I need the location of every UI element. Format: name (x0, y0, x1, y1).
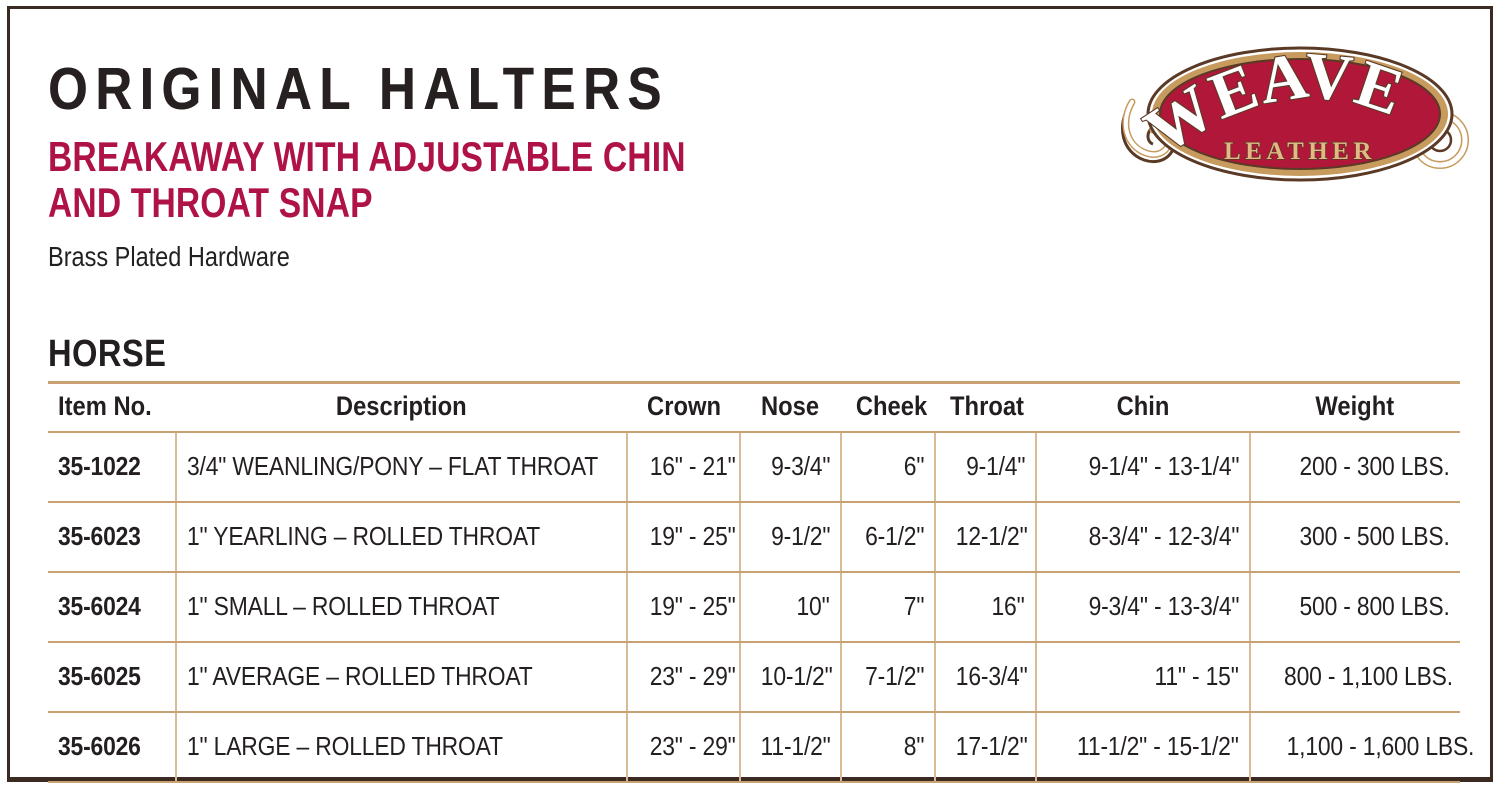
product-spec-sheet: ORIGINAL HALTERS BREAKAWAY WITH ADJUSTAB… (0, 0, 1500, 790)
header-block: ORIGINAL HALTERS BREAKAWAY WITH ADJUSTAB… (48, 58, 1078, 272)
table-body: 35-1022 3/4" WEANLING/PONY – FLAT THROAT… (48, 432, 1460, 782)
cell-crown: 19" - 25" (627, 572, 740, 642)
cell-nose: 10" (740, 572, 841, 642)
page-subtitle-line-1: BREAKAWAY WITH ADJUSTABLE CHIN (48, 133, 686, 180)
column-header-description: Description (176, 383, 627, 433)
cell-throat: 17-1/2" (935, 712, 1036, 782)
section-title-horse: HORSE (48, 334, 1262, 374)
cell-crown: 19" - 25" (627, 502, 740, 572)
cell-chin: 9-3/4" - 13-3/4" (1036, 572, 1250, 642)
table-row: 35-6023 1" YEARLING – ROLLED THROAT 19" … (48, 502, 1460, 572)
cell-nose: 9-1/2" (740, 502, 841, 572)
section-heading: HORSE (48, 334, 1460, 374)
cell-chin: 9-1/4" - 13-1/4" (1036, 432, 1250, 502)
page-subtitle-line-2: AND THROAT SNAP (48, 182, 872, 224)
cell-weight: 200 - 300 LBS. (1250, 432, 1460, 502)
cell-description: 1" YEARLING – ROLLED THROAT (176, 502, 627, 572)
cell-description: 3/4" WEANLING/PONY – FLAT THROAT (176, 432, 627, 502)
cell-nose: 9-3/4" (740, 432, 841, 502)
table-row: 35-6026 1" LARGE – ROLLED THROAT 23" - 2… (48, 712, 1460, 782)
cell-description: 1" LARGE – ROLLED THROAT (176, 712, 627, 782)
cell-weight: 500 - 800 LBS. (1250, 572, 1460, 642)
column-header-crown: Crown (627, 383, 740, 433)
column-header-throat: Throat (935, 383, 1036, 433)
cell-throat: 12-1/2" (935, 502, 1036, 572)
cell-chin: 8-3/4" - 12-3/4" (1036, 502, 1250, 572)
page-title: ORIGINAL HALTERS (48, 58, 934, 120)
cell-description: 1" AVERAGE – ROLLED THROAT (176, 642, 627, 712)
column-header-weight: Weight (1250, 383, 1460, 433)
cell-cheek: 7" (841, 572, 935, 642)
cell-item-no: 35-6023 (48, 502, 176, 572)
cell-crown: 16" - 21" (627, 432, 740, 502)
column-header-item-no: Item No. (48, 383, 176, 433)
cell-item-no: 35-6026 (48, 712, 176, 782)
cell-description: 1" SMALL – ROLLED THROAT (176, 572, 627, 642)
cell-crown: 23" - 29" (627, 642, 740, 712)
table-header-row: Item No. Description Crown Nose Cheek Th… (48, 383, 1460, 433)
page-subtitle: BREAKAWAY WITH ADJUSTABLE CHIN AND THROA… (48, 136, 872, 224)
logo-tagline-text: LEATHER (1224, 138, 1376, 165)
cell-throat: 16" (935, 572, 1036, 642)
column-header-chin: Chin (1036, 383, 1250, 433)
halter-spec-table: Item No. Description Crown Nose Cheek Th… (48, 381, 1460, 783)
cell-cheek: 8" (841, 712, 935, 782)
spec-table-wrapper: Item No. Description Crown Nose Cheek Th… (48, 381, 1460, 783)
cell-nose: 10-1/2" (740, 642, 841, 712)
cell-weight: 800 - 1,100 LBS. (1250, 642, 1460, 712)
table-header: Item No. Description Crown Nose Cheek Th… (48, 383, 1460, 433)
cell-chin: 11" - 15" (1036, 642, 1250, 712)
weaver-leather-logo: WEAVER LEATHER (1110, 22, 1490, 202)
cell-cheek: 7-1/2" (841, 642, 935, 712)
cell-crown: 23" - 29" (627, 712, 740, 782)
hardware-note: Brass Plated Hardware (48, 242, 913, 272)
column-header-cheek: Cheek (841, 383, 935, 433)
cell-cheek: 6" (841, 432, 935, 502)
cell-cheek: 6-1/2" (841, 502, 935, 572)
cell-chin: 11-1/2" - 15-1/2" (1036, 712, 1250, 782)
table-row: 35-1022 3/4" WEANLING/PONY – FLAT THROAT… (48, 432, 1460, 502)
cell-throat: 16-3/4" (935, 642, 1036, 712)
cell-weight: 1,100 - 1,600 LBS. (1250, 712, 1460, 782)
cell-nose: 11-1/2" (740, 712, 841, 782)
column-header-nose: Nose (740, 383, 841, 433)
cell-weight: 300 - 500 LBS. (1250, 502, 1460, 572)
cell-throat: 9-1/4" (935, 432, 1036, 502)
table-row: 35-6024 1" SMALL – ROLLED THROAT 19" - 2… (48, 572, 1460, 642)
cell-item-no: 35-1022 (48, 432, 176, 502)
cell-item-no: 35-6025 (48, 642, 176, 712)
cell-item-no: 35-6024 (48, 572, 176, 642)
svg-text:LEATHER: LEATHER (1224, 138, 1376, 165)
table-row: 35-6025 1" AVERAGE – ROLLED THROAT 23" -… (48, 642, 1460, 712)
